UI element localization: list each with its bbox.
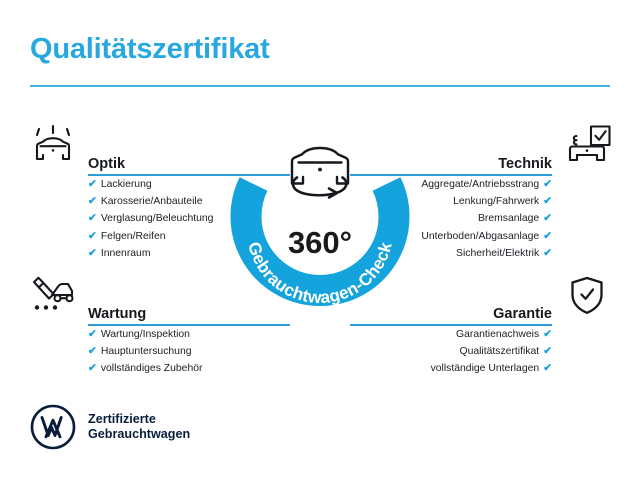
page-title: Qualitätszertifikat: [30, 33, 270, 66]
list-item-label: Verglasung/Beleuchtung: [101, 211, 214, 227]
check-icon: ✔: [88, 360, 97, 376]
list-item-label: Karosserie/Anbauteile: [101, 194, 203, 210]
check-icon: ✔: [88, 193, 97, 209]
list-item-label: Aggregate/Antriebsstrang: [421, 177, 539, 193]
check-icon: ✔: [543, 193, 552, 209]
list-item-label: Lenkung/Fahrwerk: [453, 194, 539, 210]
certificate-page: Qualitätszertifikat: [0, 0, 640, 480]
badge-360-gebrauchtwagen-check: Gebrauchtwagen-Check 360°: [226, 122, 414, 312]
list-item-label: Qualitätszertifikat: [459, 344, 539, 360]
check-icon: ✔: [543, 343, 552, 359]
check-icon: ✔: [543, 210, 552, 226]
title-divider: [30, 85, 610, 87]
check-icon: ✔: [88, 326, 97, 342]
list-item: Qualitätszertifikat✔: [350, 343, 552, 360]
check-icon: ✔: [543, 245, 552, 261]
list-item-label: Wartung/Inspektion: [101, 327, 190, 343]
list-item-label: Hauptuntersuchung: [101, 344, 192, 360]
check-icon: ✔: [88, 228, 97, 244]
footer-line-2: Gebrauchtwagen: [88, 427, 190, 443]
check-icon: ✔: [88, 245, 97, 261]
list-item-label: Sicherheit/Elektrik: [456, 246, 539, 262]
list-item-label: Innenraum: [101, 246, 151, 262]
check-icon: ✔: [88, 343, 97, 359]
vw-logo: [30, 404, 76, 450]
list-item: ✔Wartung/Inspektion: [88, 326, 290, 343]
check-icon: ✔: [88, 176, 97, 192]
check-icon: ✔: [543, 326, 552, 342]
list-item: vollständige Unterlagen✔: [350, 360, 552, 377]
footer-brand: Zertifizierte Gebrauchtwagen: [30, 404, 190, 450]
list-item-label: Unterboden/Abgasanlage: [421, 229, 539, 245]
badge-center-label: 360°: [288, 225, 352, 260]
list-item-label: vollständiges Zubehör: [101, 361, 203, 377]
footer-text: Zertifizierte Gebrauchtwagen: [88, 412, 190, 443]
section-divider-wartung: [88, 324, 290, 326]
section-divider-garantie: [350, 324, 552, 326]
list-item-label: Garantienachweis: [456, 327, 539, 343]
list-item-label: Lackierung: [101, 177, 152, 193]
footer-line-1: Zertifizierte: [88, 412, 190, 428]
list-item: ✔vollständiges Zubehör: [88, 360, 290, 377]
list-item-label: vollständige Unterlagen: [431, 361, 540, 377]
section-title-optik: Optik: [88, 156, 125, 172]
section-title-technik: Technik: [498, 156, 552, 172]
list-item: ✔Hauptuntersuchung: [88, 343, 290, 360]
check-icon: ✔: [543, 360, 552, 376]
check-icon: ✔: [543, 228, 552, 244]
check-icon: ✔: [88, 210, 97, 226]
item-list-wartung: ✔Wartung/Inspektion ✔Hauptuntersuchung ✔…: [28, 326, 290, 378]
item-list-garantie: Garantienachweis✔ Qualitätszertifikat✔ v…: [350, 326, 612, 378]
list-item: Garantienachweis✔: [350, 326, 552, 343]
check-icon: ✔: [543, 176, 552, 192]
section-title-wartung: Wartung: [88, 306, 146, 322]
list-item-label: Bremsanlage: [478, 211, 539, 227]
section-title-garantie: Garantie: [493, 306, 552, 322]
list-item-label: Felgen/Reifen: [101, 229, 166, 245]
